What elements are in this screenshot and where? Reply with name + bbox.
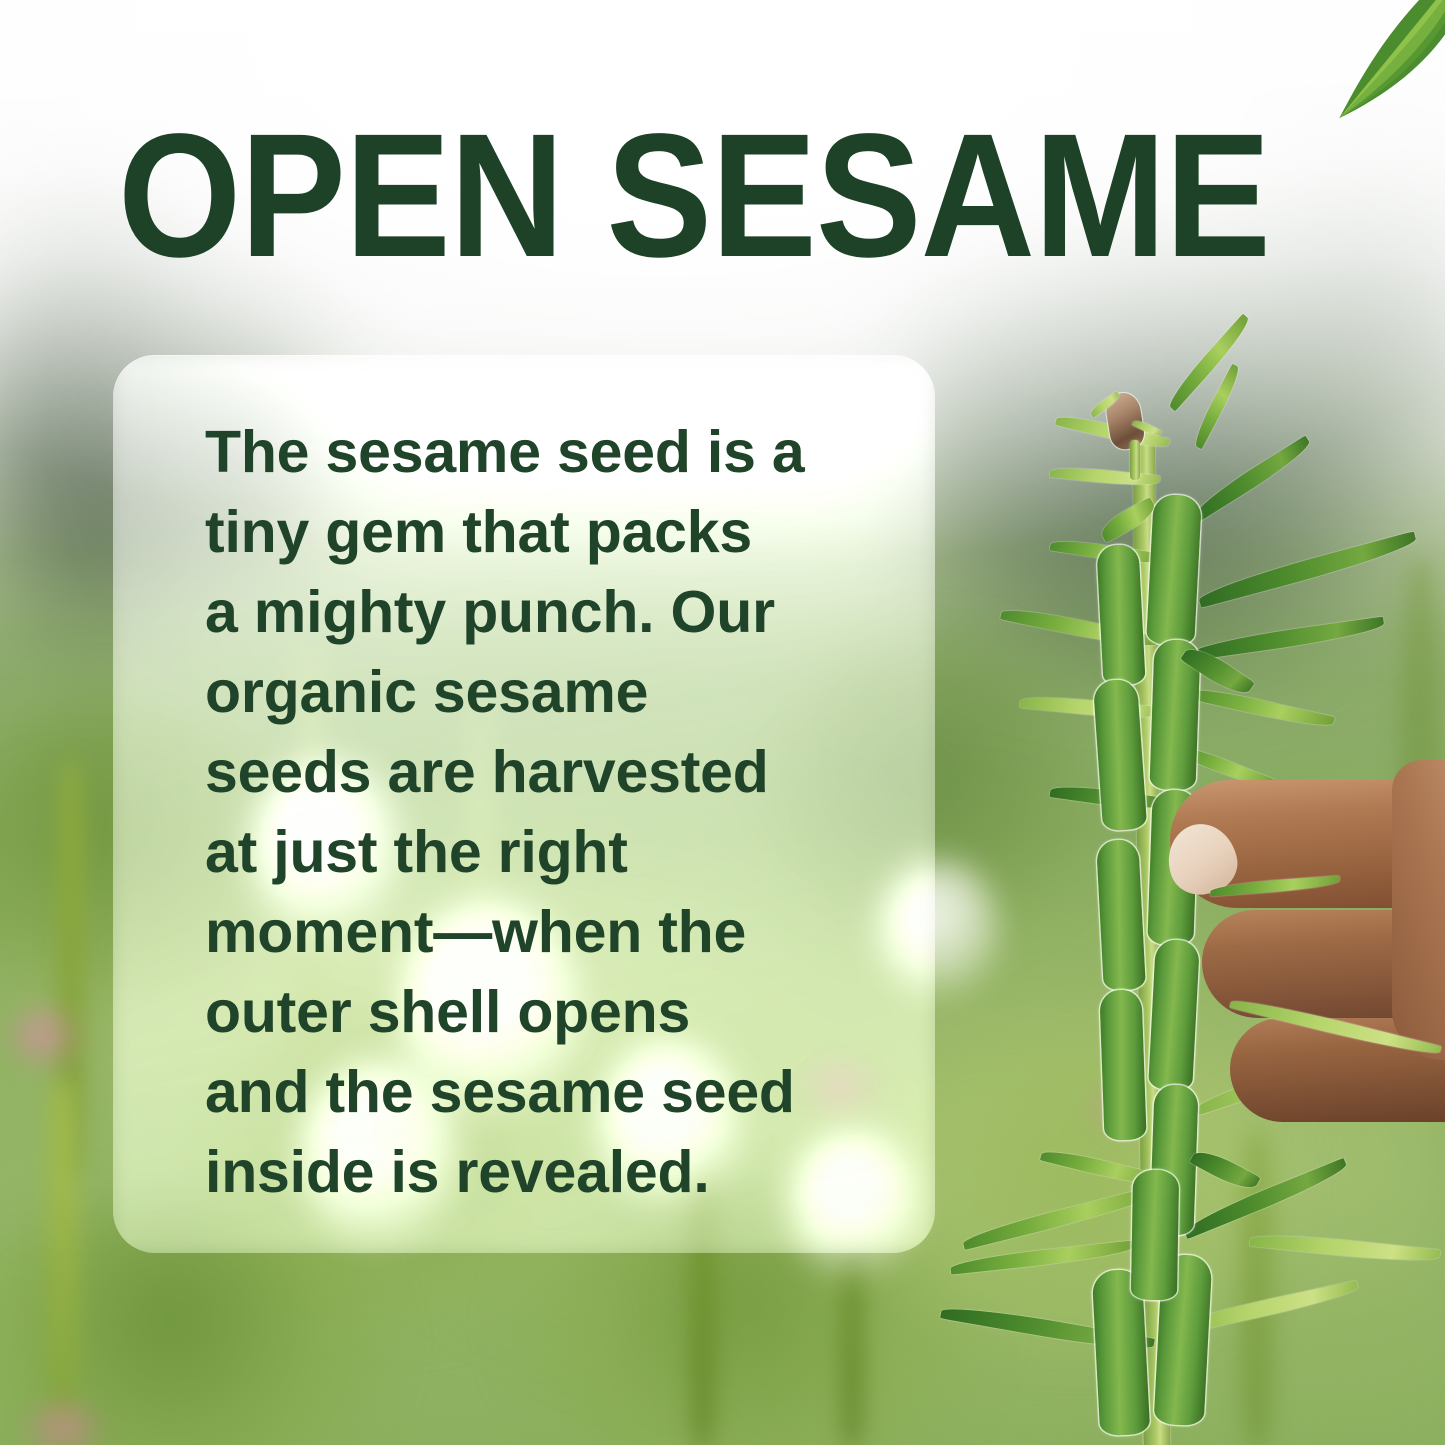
sesame-seed-pod <box>1099 989 1146 1140</box>
palm-edge <box>1392 760 1445 1060</box>
sesame-leaf <box>1191 436 1314 522</box>
sesame-seed-pod <box>1096 839 1146 991</box>
hand-holding-stem <box>1160 780 1445 1200</box>
sesame-leaf <box>1190 617 1385 661</box>
sesame-leaf <box>1196 531 1418 608</box>
dried-pod-stem <box>1130 440 1140 480</box>
infographic-canvas: The sesame seed is a tiny gem that packs… <box>0 0 1445 1445</box>
sesame-leaf <box>1185 683 1335 731</box>
corner-leaf-icon <box>1284 0 1445 146</box>
sesame-leaf <box>1250 1230 1441 1266</box>
page-title: OPEN SESAME <box>118 108 1270 284</box>
sesame-leaf <box>1164 314 1254 412</box>
body-paragraph: The sesame seed is a tiny gem that packs… <box>205 412 865 1212</box>
sesame-seed-pod <box>1096 544 1145 686</box>
sesame-seed-pod <box>1146 494 1202 646</box>
